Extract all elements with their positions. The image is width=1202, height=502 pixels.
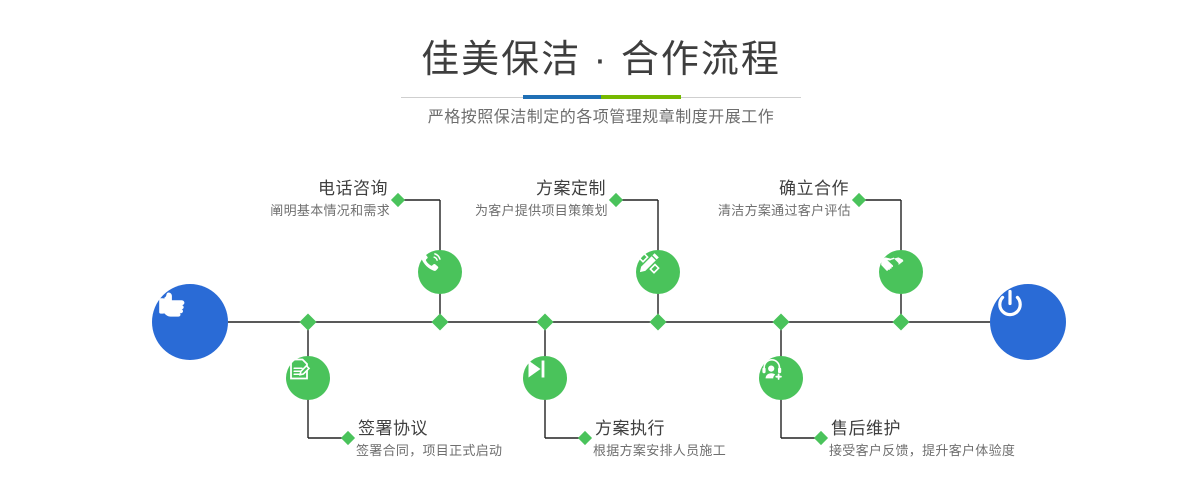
step-node-6[interactable] [759,356,803,400]
step-node-5[interactable] [879,250,923,294]
step-title-2: 签署协议 [356,418,502,440]
step-title-6: 售后维护 [829,418,1015,440]
label-diamond-step-4 [578,431,592,445]
flow-start-node[interactable] [152,284,228,360]
timeline-diamond-2 [300,314,317,331]
step-node-2[interactable] [286,356,330,400]
timeline-diamond-3 [650,314,667,331]
divider-segment-blue [523,95,601,99]
step-desc-5: 清洁方案通过客户评估 [470,200,851,222]
step-label-5: 确立合作 清洁方案通过客户评估 [470,178,851,222]
flow-diagram: 电话咨询 阐明基本情况和需求 方案定制 为客户提供项目策 [0,150,1202,502]
step-node-1[interactable] [418,250,462,294]
label-diamond-step-6 [814,431,828,445]
page-title: 佳美保洁 · 合作流程 [0,36,1202,84]
step-node-3[interactable] [636,250,680,294]
cooperation-flow-infographic: 佳美保洁 · 合作流程 严格按照保洁制定的各项管理规章制度开展工作 [0,0,1202,502]
timeline-diamond-6 [773,314,790,331]
label-diamond-step-5 [852,193,866,207]
page-subtitle: 严格按照保洁制定的各项管理规章制度开展工作 [0,105,1202,131]
label-diamond-step-2 [341,431,355,445]
step-label-4: 方案执行 根据方案安排人员施工 [593,418,726,462]
label-diamonds [341,193,866,445]
timeline-diamond-5 [893,314,910,331]
flow-end-node[interactable] [990,284,1066,360]
step-label-6: 售后维护 接受客户反馈，提升客户体验度 [829,418,1015,462]
step-desc-2: 签署合同，项目正式启动 [356,440,502,462]
step-title-4: 方案执行 [593,418,726,440]
step-title-5: 确立合作 [470,178,851,200]
timeline-diamond-1 [432,314,449,331]
timeline-diamond-4 [537,314,554,331]
step-node-4[interactable] [523,356,567,400]
title-divider [401,95,801,99]
step-desc-4: 根据方案安排人员施工 [593,440,726,462]
divider-segment-green [601,95,681,99]
step-label-2: 签署协议 签署合同，项目正式启动 [356,418,502,462]
step-desc-6: 接受客户反馈，提升客户体验度 [829,440,1015,462]
